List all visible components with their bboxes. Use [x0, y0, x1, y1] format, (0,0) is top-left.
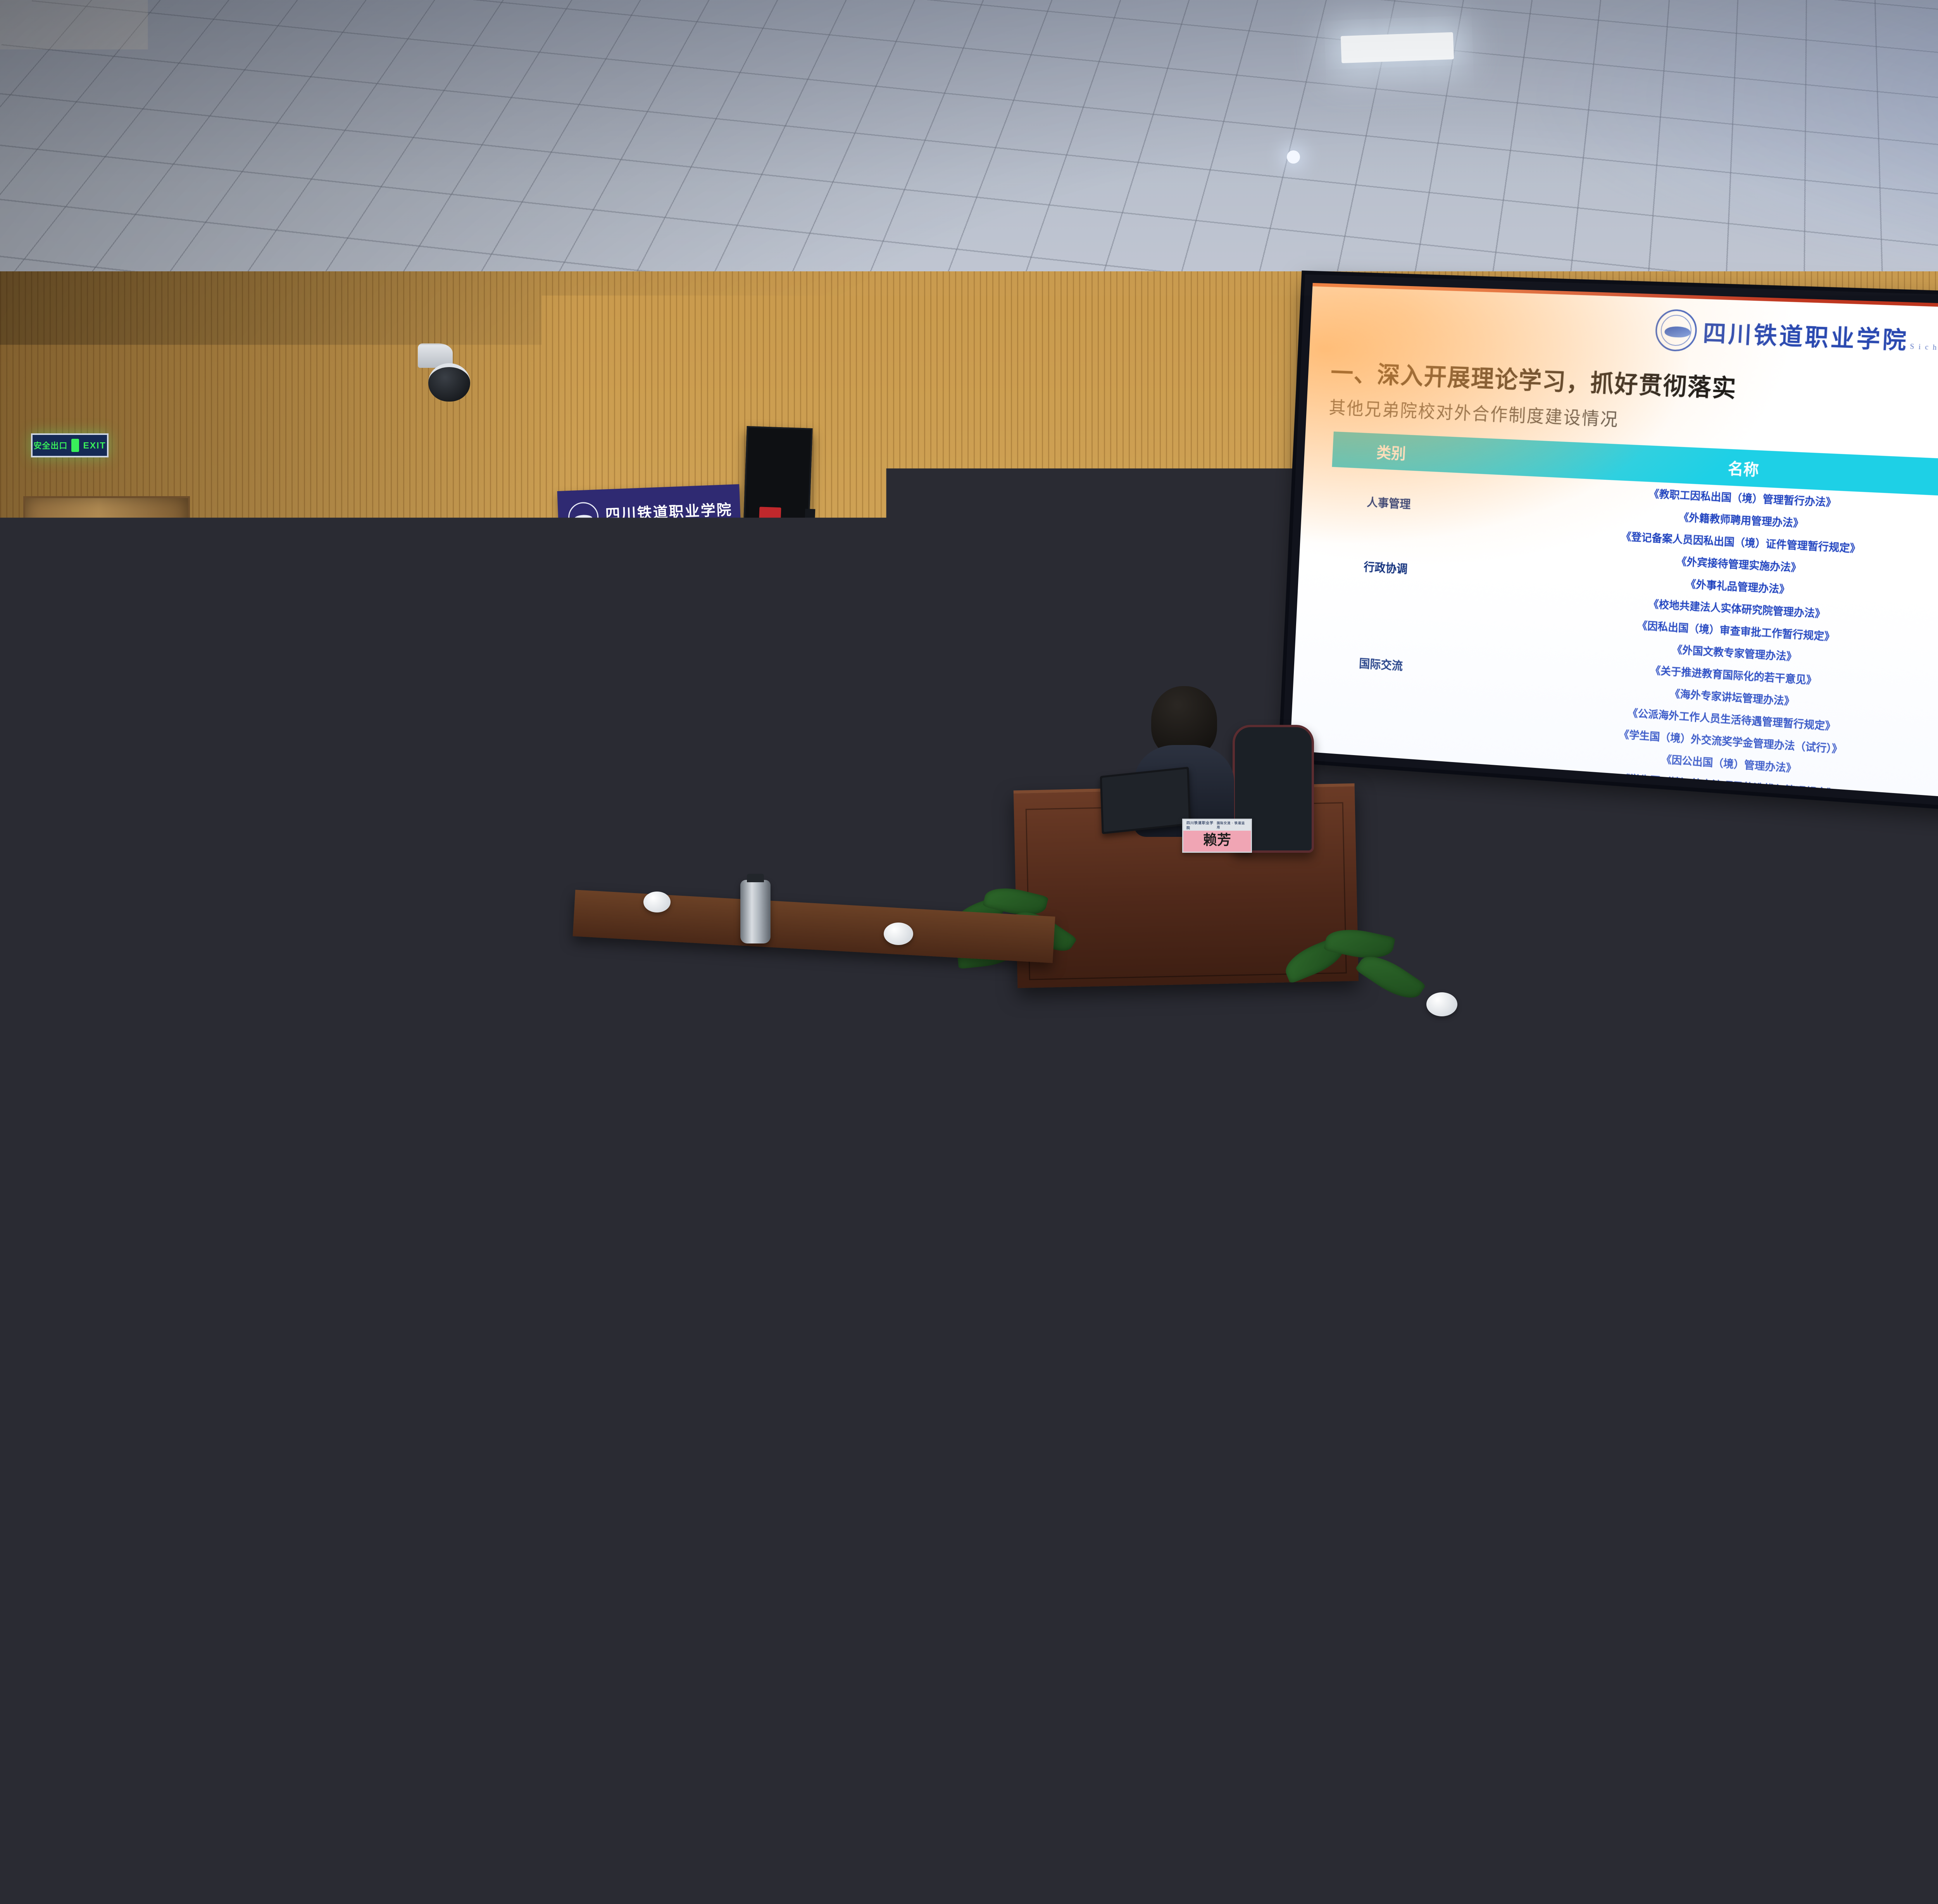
auditorium-seat[interactable]	[1402, 1345, 1555, 1463]
auditorium-seat[interactable]	[681, 1345, 834, 1463]
seat-headrest-cover	[617, 1079, 702, 1121]
notebook[interactable]	[1047, 1140, 1116, 1161]
audience-seating	[0, 0, 1938, 1904]
seat-headrest-cover	[203, 1490, 379, 1579]
auditorium-seat[interactable]	[1099, 1690, 1322, 1861]
auditorium-seat[interactable]	[614, 1081, 704, 1150]
auditorium-seat[interactable]	[1479, 1690, 1702, 1861]
seat-headrest-cover	[0, 1144, 69, 1195]
auditorium-seat[interactable]	[601, 1147, 707, 1229]
seat-headrest-cover	[1406, 1340, 1550, 1413]
seat-headrest-cover	[445, 1144, 545, 1195]
seat-headrest-cover	[76, 990, 138, 1022]
auditorium-seat[interactable]	[698, 1233, 824, 1330]
auditorium-seat[interactable]	[1161, 1345, 1315, 1463]
auditorium-seat[interactable]	[1085, 1233, 1212, 1330]
auditorium-seat[interactable]	[748, 1081, 838, 1150]
seat-headrest-cover	[286, 1144, 386, 1195]
seat-headrest-cover	[816, 1490, 991, 1579]
seat-headrest-cover	[445, 1340, 589, 1413]
seat-headrest-cover	[663, 1029, 735, 1065]
seat-headrest-cover	[657, 990, 720, 1022]
seat-headrest-cover	[326, 1029, 398, 1065]
auditorium-seat[interactable]	[760, 1147, 866, 1229]
conference-hall-scene: 安全出口 EXIT 四川铁道职业学院 Sichuan Railway Colle…	[0, 0, 1938, 1904]
seat-headrest-cover	[509, 1490, 685, 1579]
seat-headrest-cover	[560, 990, 623, 1022]
auditorium-seat[interactable]	[0, 1690, 183, 1861]
notebook[interactable]	[512, 1070, 574, 1089]
auditorium-seat[interactable]	[882, 1081, 972, 1150]
auditorium-seat[interactable]	[0, 1496, 78, 1640]
seat-headrest-cover	[0, 1490, 72, 1579]
seat-headrest-cover	[314, 1229, 433, 1289]
seat-headrest-cover	[1166, 1340, 1310, 1413]
auditorium-seat[interactable]	[891, 1233, 1018, 1330]
auditorium-seat[interactable]	[200, 1345, 353, 1463]
notebook[interactable]	[97, 1147, 171, 1170]
seat-headrest-cover	[1089, 1229, 1208, 1289]
auditorium-seat[interactable]	[198, 1496, 384, 1640]
seat-headrest-cover	[1122, 1490, 1297, 1579]
seat-headrest-cover	[926, 1340, 1070, 1413]
auditorium-seat[interactable]	[310, 1233, 437, 1330]
seat-headrest-cover	[0, 990, 41, 1022]
auditorium-seat[interactable]	[79, 1081, 169, 1150]
seat-headrest-cover	[895, 1229, 1014, 1289]
auditorium-seat[interactable]	[810, 1496, 997, 1640]
auditorium-seat[interactable]	[1279, 1233, 1406, 1330]
auditorium-seat[interactable]	[213, 1081, 303, 1150]
auditorium-seat[interactable]	[0, 1233, 49, 1330]
seat-headrest-cover	[888, 1029, 960, 1065]
auditorium-seat[interactable]	[0, 1147, 72, 1229]
seat-headrest-cover	[101, 1029, 173, 1065]
seat-headrest-cover	[685, 1340, 829, 1413]
seat-headrest-cover	[216, 1079, 300, 1121]
auditorium-seat[interactable]	[1116, 1496, 1303, 1640]
seat-headrest-cover	[0, 1079, 33, 1121]
seat-headrest-cover	[0, 1029, 60, 1065]
auditorium-seat[interactable]	[0, 1345, 113, 1463]
seat-headrest-cover	[1018, 1079, 1103, 1121]
seat-headrest-cover	[205, 1340, 349, 1413]
auditorium-seat[interactable]	[116, 1233, 243, 1330]
seat-headrest-cover	[1283, 1229, 1402, 1289]
seat-headrest-cover	[763, 1144, 863, 1195]
seat-headrest-cover	[775, 1029, 847, 1065]
seat-headrest-cover	[754, 990, 817, 1022]
seat-headrest-cover	[463, 990, 526, 1022]
auditorium-seat[interactable]	[1422, 1496, 1609, 1640]
auditorium-seat[interactable]	[442, 1147, 548, 1229]
seat-headrest-cover	[751, 1079, 835, 1121]
seat-headrest-cover	[120, 1229, 239, 1289]
seat-headrest-cover	[350, 1079, 434, 1121]
auditorium-seat[interactable]	[440, 1345, 594, 1463]
auditorium-seat[interactable]	[504, 1233, 631, 1330]
seat-headrest-cover	[346, 1683, 556, 1789]
seat-headrest-cover	[885, 1079, 969, 1121]
auditorium-seat[interactable]	[340, 1690, 563, 1861]
auditorium-seat[interactable]	[0, 1081, 36, 1150]
auditorium-seat[interactable]	[719, 1690, 943, 1861]
seat-headrest-cover	[438, 1029, 510, 1065]
auditorium-seat[interactable]	[921, 1345, 1074, 1463]
seat-headrest-cover	[0, 1683, 176, 1789]
auditorium-seat[interactable]	[347, 1081, 437, 1150]
seat-headrest-cover	[1486, 1683, 1696, 1789]
seat-headrest-cover	[604, 1144, 704, 1195]
seat-headrest-cover	[1106, 1683, 1316, 1789]
seat-headrest-cover	[922, 1144, 1022, 1195]
auditorium-seat[interactable]	[1236, 1147, 1343, 1229]
auditorium-seat[interactable]	[919, 1147, 1025, 1229]
auditorium-seat[interactable]	[481, 1081, 571, 1150]
seat-headrest-cover	[0, 1340, 109, 1413]
seat-headrest-cover	[82, 1079, 167, 1121]
seat-headrest-cover	[1240, 1144, 1340, 1195]
notebook[interactable]	[271, 1194, 349, 1217]
seat-headrest-cover	[508, 1229, 627, 1289]
seat-headrest-cover	[0, 1229, 45, 1289]
seat-headrest-cover	[213, 1029, 285, 1065]
seat-headrest-cover	[726, 1683, 936, 1789]
auditorium-seat[interactable]	[504, 1496, 691, 1640]
seat-headrest-cover	[550, 1029, 622, 1065]
seat-headrest-cover	[172, 990, 235, 1022]
seat-headrest-cover	[269, 990, 332, 1022]
seat-headrest-cover	[702, 1229, 821, 1289]
seat-headrest-cover	[366, 990, 429, 1022]
seat-headrest-cover	[1428, 1490, 1604, 1579]
